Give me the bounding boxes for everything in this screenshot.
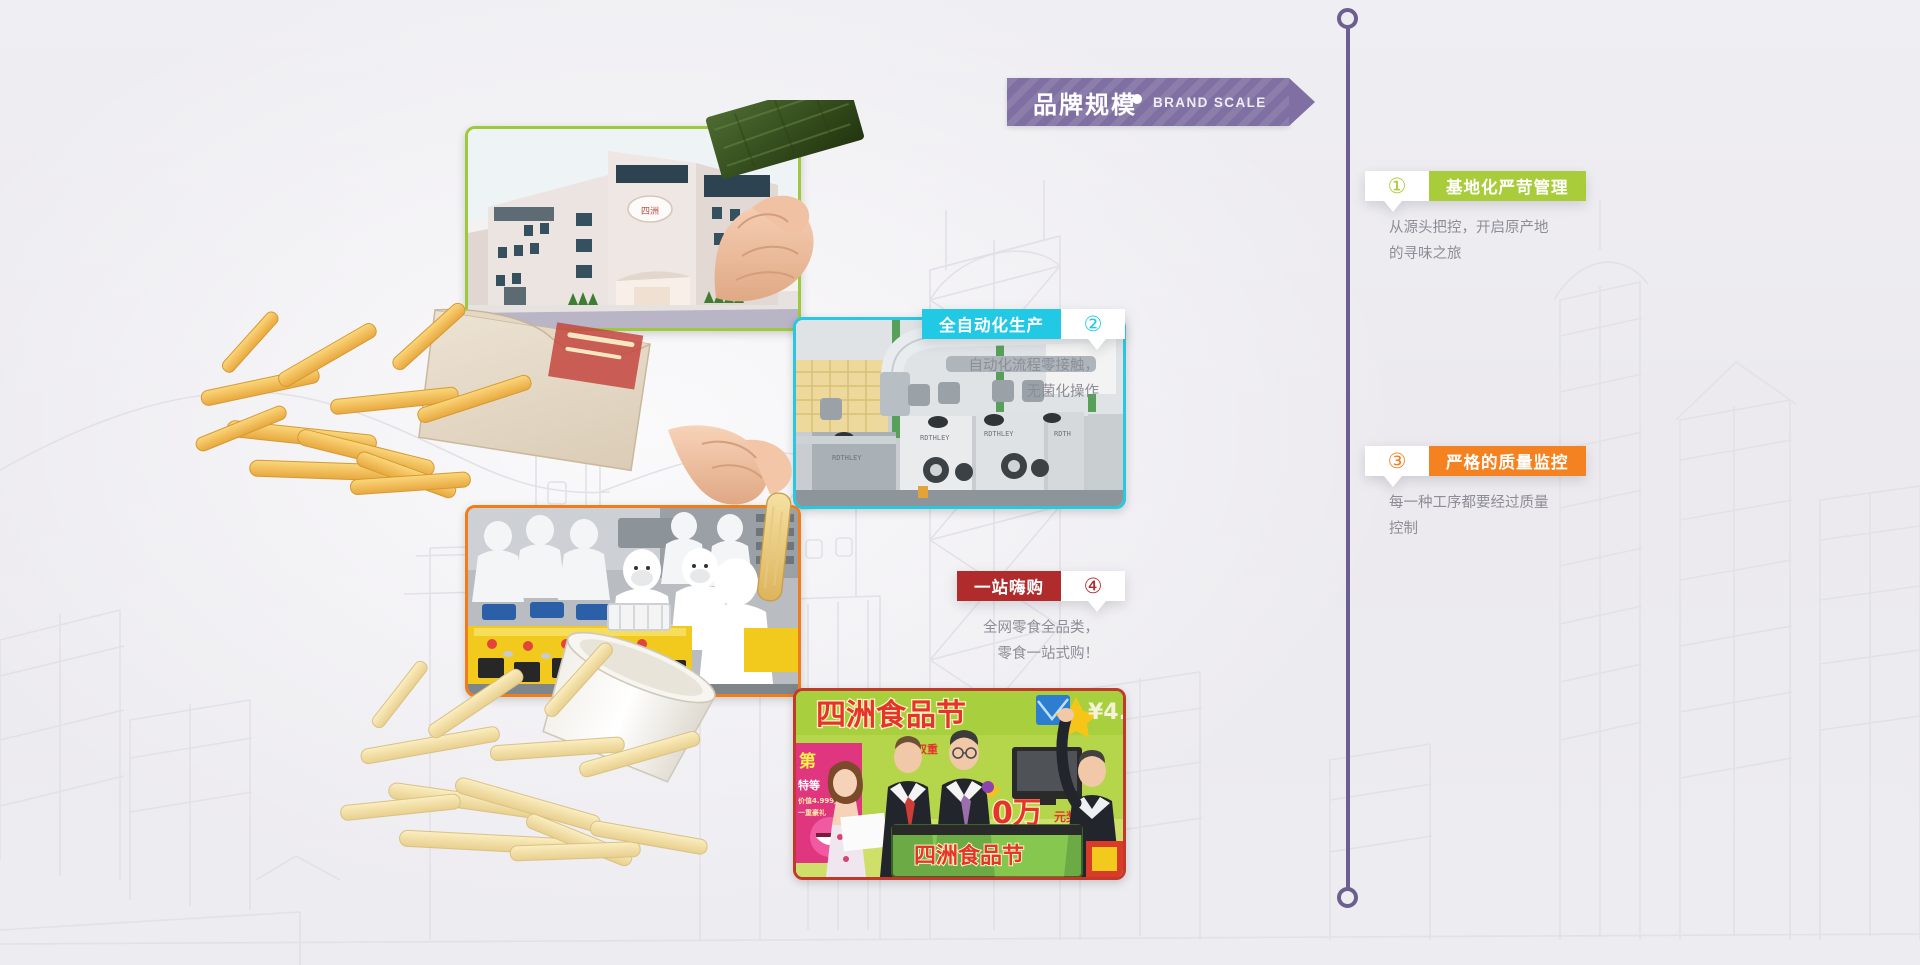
- factory-building-photo[interactable]: 四洲: [465, 126, 801, 331]
- svg-text:四洲食品节: 四洲食品节: [816, 698, 966, 733]
- milestone-2[interactable]: 全自动化生产 ② 自动化流程零接触， 无菌化操作: [922, 309, 1125, 405]
- packaging-workers-illustration: [468, 508, 798, 694]
- milestone-3-label: 严格的质量监控: [1429, 446, 1586, 476]
- milestone-2-number: ②: [1084, 314, 1103, 335]
- timeline-rail: [1346, 22, 1350, 894]
- milestone-4-pointer-icon: [1088, 601, 1106, 612]
- factory-building-illustration: 四洲: [468, 129, 798, 328]
- svg-text:特等: 特等: [798, 778, 820, 792]
- milestone-3-tag-row[interactable]: ③ 严格的质量监控: [1365, 446, 1586, 476]
- milestone-3[interactable]: ③ 严格的质量监控 每一种工序都要经过质量 控制: [1365, 446, 1586, 542]
- milestone-2-number-box: ②: [1061, 309, 1125, 339]
- packaging-workers-photo[interactable]: [465, 505, 801, 697]
- banner-arrow-tail-icon: [1289, 78, 1315, 126]
- milestone-3-number-box: ③: [1365, 446, 1429, 476]
- svg-text:RDTHLEY: RDTHLEY: [920, 434, 950, 442]
- milestone-3-description: 每一种工序都要经过质量 控制: [1389, 490, 1586, 542]
- milestone-1-number: ①: [1388, 176, 1407, 197]
- milestone-4-description: 全网零食全品类， 零食一站式购！: [957, 615, 1099, 667]
- milestone-4-number: ④: [1084, 576, 1103, 597]
- food-festival-illustration: 四洲食品节 第 特等 价值4.999万 一重豪礼 0万 元奖品 双重: [796, 691, 1123, 877]
- milestone-2-description: 自动化流程零接触， 无菌化操作: [922, 353, 1099, 405]
- milestone-3-number: ③: [1388, 451, 1407, 472]
- svg-text:四洲食品节: 四洲食品节: [914, 843, 1024, 869]
- banner-title-en: BRAND SCALE: [1153, 95, 1267, 110]
- fries-bag-spill-decoration: [180, 300, 740, 530]
- milestone-1-tag-row[interactable]: ① 基地化严苛管理: [1365, 171, 1586, 201]
- milestone-2-label: 全自动化生产: [922, 309, 1061, 339]
- brand-scale-banner: 品牌规模 BRAND SCALE: [1007, 78, 1289, 126]
- milestone-4-tag-row[interactable]: 一站嗨购 ④: [957, 571, 1125, 601]
- milestone-4-label: 一站嗨购: [957, 571, 1061, 601]
- svg-text:RDTH: RDTH: [1054, 430, 1071, 438]
- milestone-4-number-box: ④: [1061, 571, 1125, 601]
- svg-text:四洲: 四洲: [641, 206, 659, 217]
- milestone-2-tag-row[interactable]: 全自动化生产 ②: [922, 309, 1125, 339]
- milestone-1-label: 基地化严苛管理: [1429, 171, 1586, 201]
- svg-text:¥4.9: ¥4.9: [1088, 700, 1123, 725]
- timeline-end-node-icon: [1337, 887, 1358, 908]
- milestone-2-pointer-icon: [1088, 339, 1106, 350]
- milestone-1-number-box: ①: [1365, 171, 1429, 201]
- svg-text:一重豪礼: 一重豪礼: [798, 808, 826, 817]
- banner-node-dot-icon: [1132, 94, 1142, 104]
- milestone-1-pointer-icon: [1384, 201, 1402, 212]
- milestone-1-description: 从源头把控，开启原产地 的寻味之旅: [1389, 215, 1586, 267]
- milestone-4[interactable]: 一站嗨购 ④ 全网零食全品类， 零食一站式购！: [957, 571, 1125, 667]
- svg-text:RDTHLEY: RDTHLEY: [984, 430, 1014, 438]
- banner-title-cn: 品牌规模: [1033, 85, 1137, 120]
- svg-text:RDTHLEY: RDTHLEY: [832, 454, 862, 462]
- food-festival-photo[interactable]: 四洲食品节 第 特等 价值4.999万 一重豪礼 0万 元奖品 双重: [793, 688, 1126, 880]
- timeline-start-node-icon: [1337, 8, 1358, 29]
- svg-text:第: 第: [799, 751, 816, 772]
- vertical-timeline: [1345, 8, 1351, 908]
- milestone-3-pointer-icon: [1384, 476, 1402, 487]
- milestone-1[interactable]: ① 基地化严苛管理 从源头把控，开启原产地 的寻味之旅: [1365, 171, 1586, 267]
- banner-body: 品牌规模 BRAND SCALE: [1007, 78, 1289, 126]
